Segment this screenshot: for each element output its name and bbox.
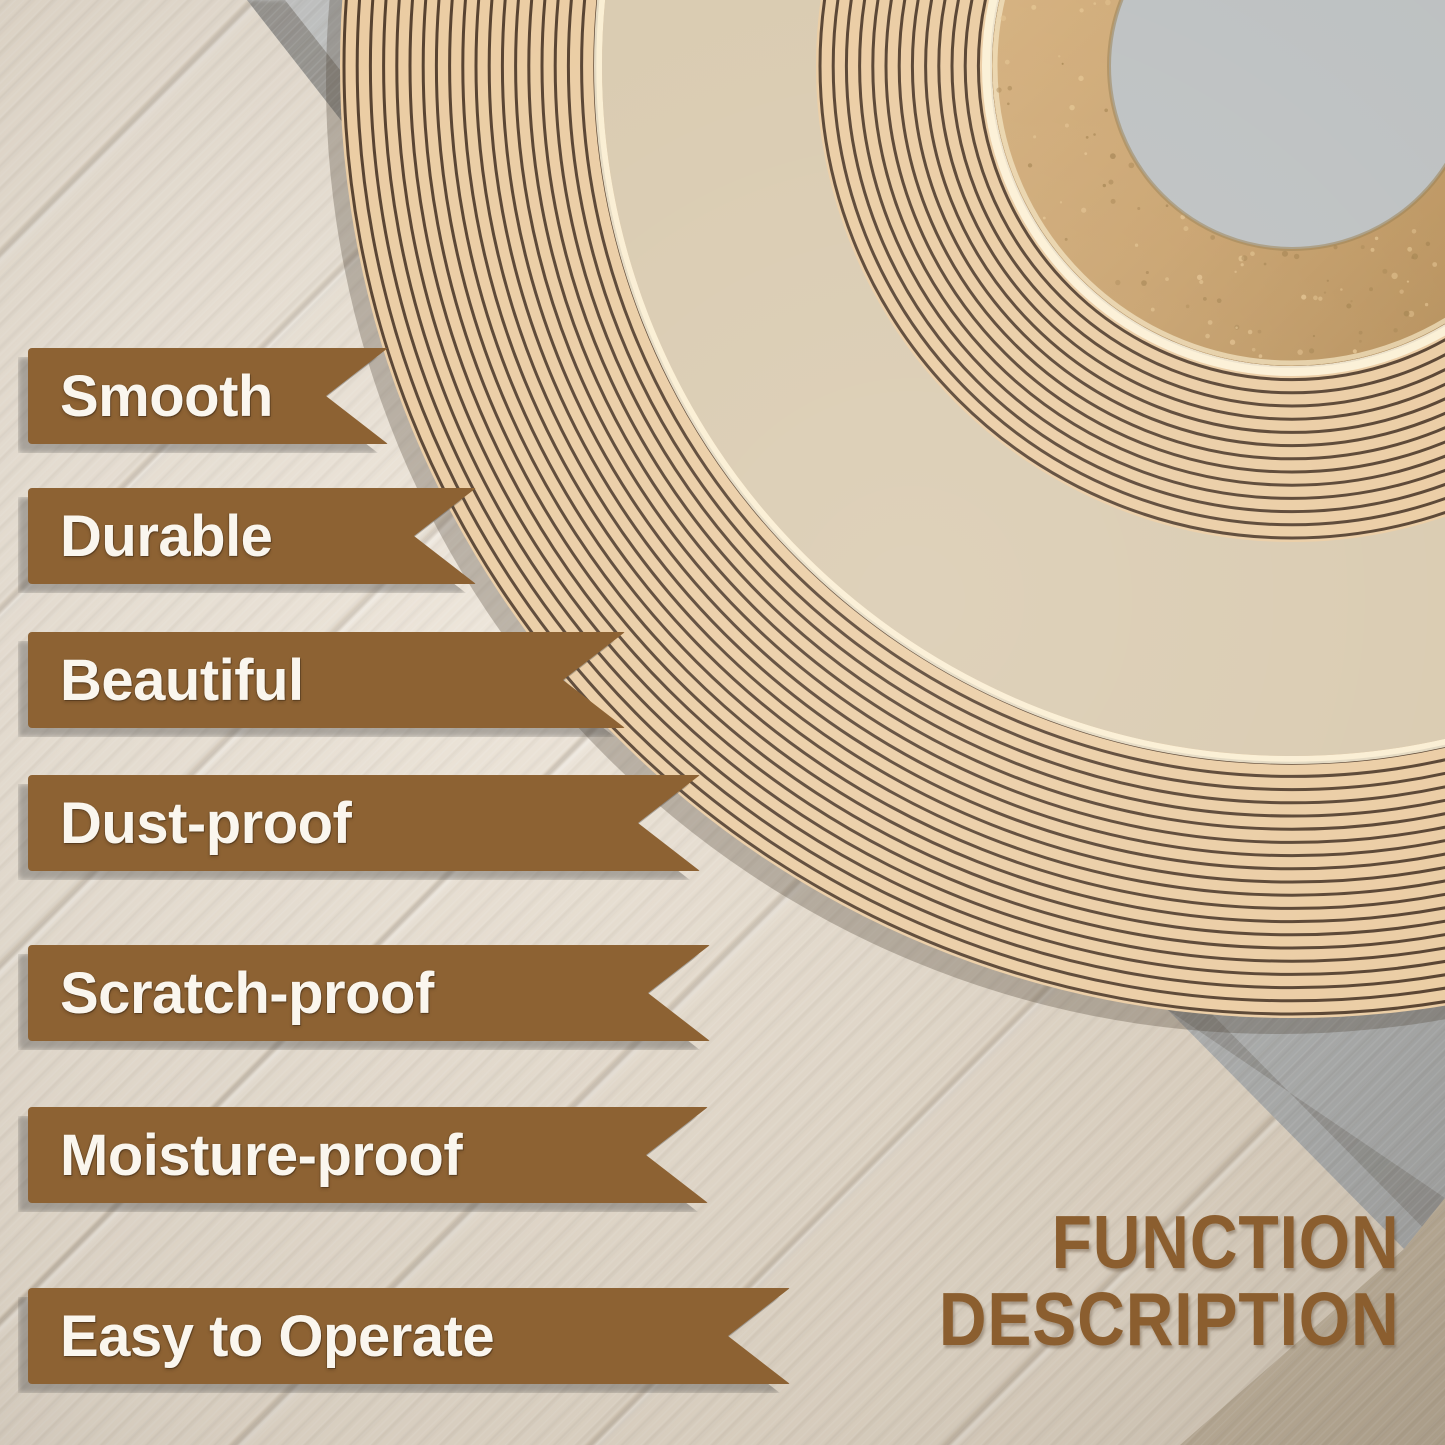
feature-banner-label: Dust-proof [60, 790, 351, 857]
feature-banner-beautiful[interactable]: Beautiful [28, 632, 625, 728]
feature-banner-scratch-proof[interactable]: Scratch-proof [28, 945, 710, 1041]
feature-banner-dust-proof[interactable]: Dust-proof [28, 775, 700, 871]
feature-banner-durable[interactable]: Durable [28, 488, 476, 584]
feature-banner-moisture-proof[interactable]: Moisture-proof [28, 1107, 708, 1203]
feature-banner-label: Scratch-proof [60, 960, 434, 1027]
heading-line-1: FUNCTION [939, 1204, 1400, 1281]
feature-banner-label: Moisture-proof [60, 1122, 462, 1189]
feature-banner-label: Beautiful [60, 647, 304, 714]
function-description-heading: FUNCTION DESCRIPTION [876, 1204, 1400, 1357]
feature-banner-label: Easy to Operate [60, 1303, 494, 1370]
feature-banner-label: Smooth [60, 363, 273, 430]
feature-banner-label: Durable [60, 503, 272, 570]
product-infographic: SmoothDurableBeautifulDust-proofScratch-… [0, 0, 1445, 1445]
heading-line-2: DESCRIPTION [939, 1281, 1400, 1358]
feature-banner-easy-to-operate[interactable]: Easy to Operate [28, 1288, 790, 1384]
